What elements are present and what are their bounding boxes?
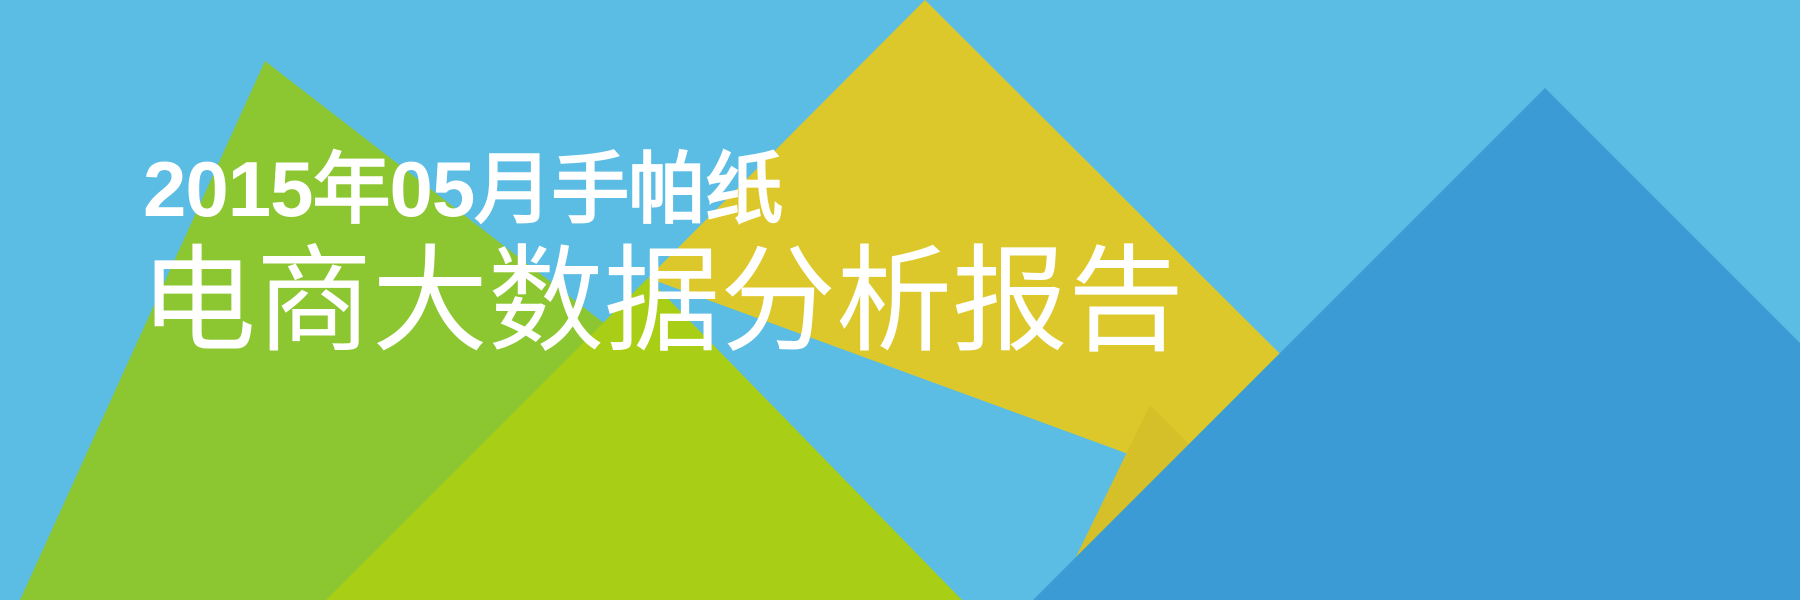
title-banner: 2015年05月手帕纸 电商大数据分析报告	[0, 0, 1800, 600]
background-geometry	[0, 0, 1800, 600]
